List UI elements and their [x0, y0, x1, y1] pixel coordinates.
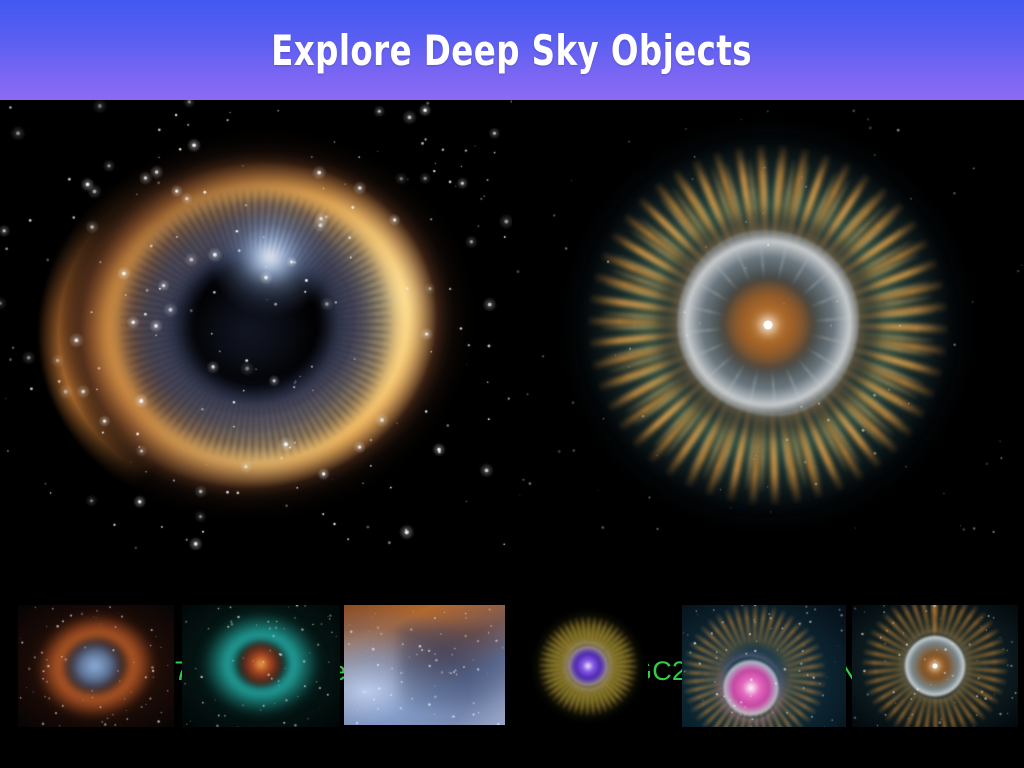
hero-image-ngc2392[interactable]	[512, 100, 1024, 550]
eskimo-central-star	[764, 321, 773, 330]
thumbnail-ngc7293-3[interactable]	[344, 605, 505, 725]
thumb-core	[235, 640, 287, 688]
thumbnail-ngc7293-2[interactable]	[182, 605, 340, 727]
thumbnail-ngc2392-3[interactable]	[852, 605, 1018, 727]
thumbnail-ngc2392-2[interactable]	[682, 605, 846, 727]
helix-core-shadow	[175, 268, 325, 398]
thumbnail-ngc7293-1[interactable]	[18, 605, 174, 727]
eskimo-nebula-render	[512, 100, 1024, 550]
thumbnail-ngc2392-1[interactable]	[528, 605, 648, 727]
thumb-dust	[399, 624, 505, 710]
thumb-central-star	[933, 664, 938, 669]
thumb-core	[722, 657, 780, 719]
page-title: Explore Deep Sky Objects	[272, 26, 753, 75]
hero-image-ngc7293[interactable]	[0, 100, 512, 550]
helix-nebula-render	[0, 100, 512, 550]
thumb-core	[567, 644, 609, 688]
page-header: Explore Deep Sky Objects	[0, 0, 1024, 100]
gallery-stage: NGC7293 Helix Nebula NGC2392 Eskimo Nebu…	[0, 100, 1024, 768]
